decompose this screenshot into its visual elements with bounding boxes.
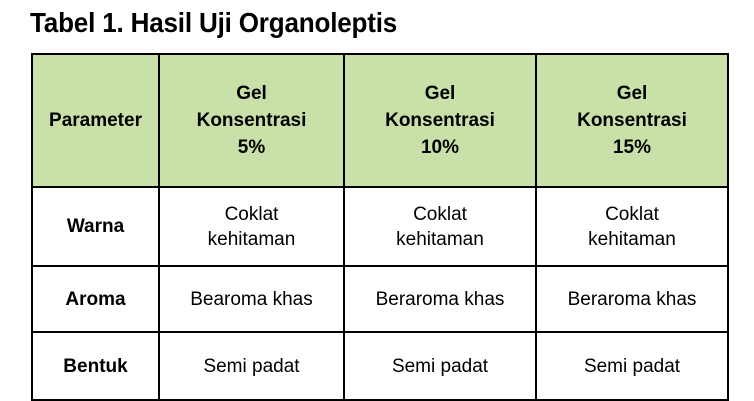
header-gel-15-line-2: Konsentrasi xyxy=(541,107,723,134)
row-warna-gel-10: Coklat kehitaman xyxy=(344,187,536,266)
table-container: Parameter Gel Konsentrasi 5% Gel Konsent… xyxy=(31,53,727,375)
row-bentuk-gel-10: Semi padat xyxy=(344,332,536,400)
row-aroma-parameter: Aroma xyxy=(32,266,159,332)
row-aroma-gel-15: Beraroma khas xyxy=(536,266,728,332)
header-cell-gel-15: Gel Konsentrasi 15% xyxy=(536,54,728,187)
row-warna-gel-15-line-2: kehitaman xyxy=(541,227,723,252)
row-aroma-gel-5: Bearoma khas xyxy=(159,266,344,332)
document-page: Tabel 1. Hasil Uji Organoleptis Paramete… xyxy=(0,0,754,400)
row-warna-gel-5-line-2: kehitaman xyxy=(164,227,339,252)
table-title: Tabel 1. Hasil Uji Organoleptis xyxy=(30,4,397,42)
row-bentuk-gel-5: Semi padat xyxy=(159,332,344,400)
header-gel-5-line-3: 5% xyxy=(164,134,339,161)
row-warna-gel-10-line-1: Coklat xyxy=(349,202,531,227)
header-cell-parameter: Parameter xyxy=(32,54,159,187)
row-warna-gel-10-line-2: kehitaman xyxy=(349,227,531,252)
header-gel-10-line-3: 10% xyxy=(349,134,531,161)
row-bentuk-parameter: Bentuk xyxy=(32,332,159,400)
row-warna-gel-5: Coklat kehitaman xyxy=(159,187,344,266)
table-row: Warna Coklat kehitaman Coklat kehitaman … xyxy=(32,187,728,266)
row-warna-gel-15: Coklat kehitaman xyxy=(536,187,728,266)
header-cell-gel-10: Gel Konsentrasi 10% xyxy=(344,54,536,187)
header-gel-10-line-2: Konsentrasi xyxy=(349,107,531,134)
row-aroma-gel-10: Beraroma khas xyxy=(344,266,536,332)
row-warna-gel-5-line-1: Coklat xyxy=(164,202,339,227)
header-gel-5-line-1: Gel xyxy=(164,80,339,107)
header-parameter-line-1: Parameter xyxy=(37,107,154,134)
header-gel-10-line-1: Gel xyxy=(349,80,531,107)
organoleptic-results-table: Parameter Gel Konsentrasi 5% Gel Konsent… xyxy=(31,53,729,401)
table-row: Bentuk Semi padat Semi padat Semi padat xyxy=(32,332,728,400)
header-gel-15-line-3: 15% xyxy=(541,134,723,161)
table-row: Aroma Bearoma khas Beraroma khas Berarom… xyxy=(32,266,728,332)
row-warna-parameter: Warna xyxy=(32,187,159,266)
header-gel-5-line-2: Konsentrasi xyxy=(164,107,339,134)
row-bentuk-gel-15: Semi padat xyxy=(536,332,728,400)
table-header-row: Parameter Gel Konsentrasi 5% Gel Konsent… xyxy=(32,54,728,187)
header-gel-15-line-1: Gel xyxy=(541,80,723,107)
header-cell-gel-5: Gel Konsentrasi 5% xyxy=(159,54,344,187)
row-warna-gel-15-line-1: Coklat xyxy=(541,202,723,227)
